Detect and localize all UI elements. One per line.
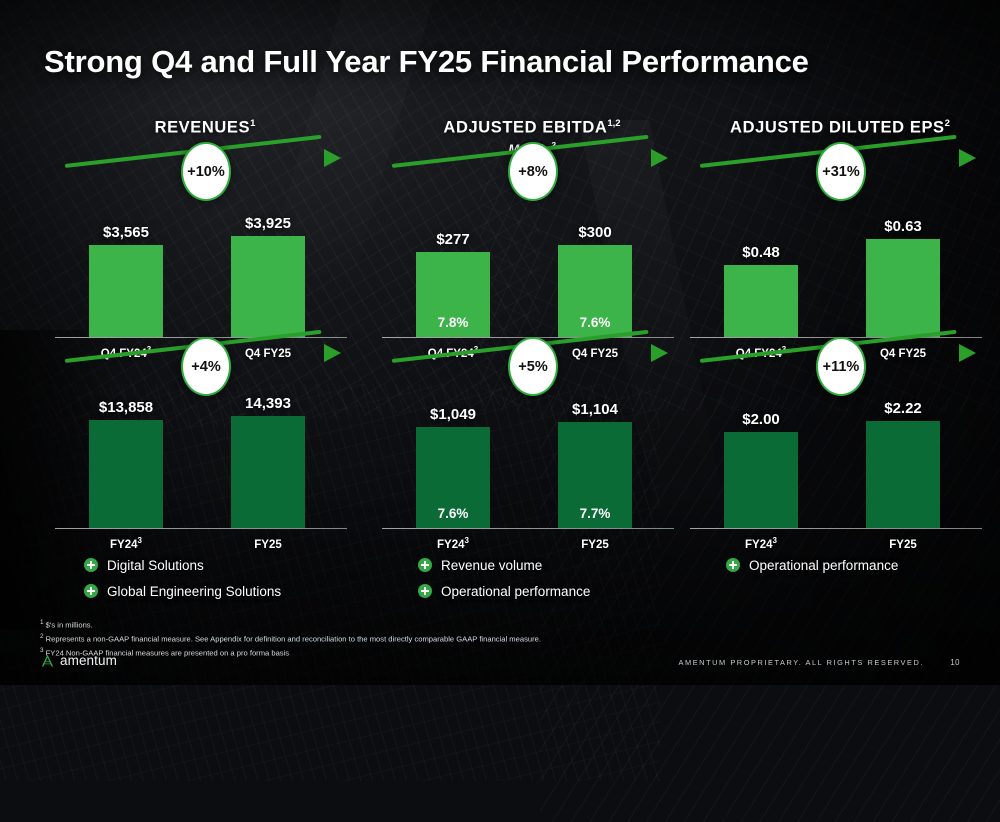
- bullet-item: Operational performance: [726, 552, 898, 578]
- growth-indicator: +8%: [392, 142, 676, 198]
- bullet-item: Operational performance: [418, 578, 590, 604]
- column-heading: ADJUSTED EBITDA1,2: [382, 118, 682, 138]
- bar: 14,393: [231, 416, 305, 528]
- bar: $2.22: [866, 421, 940, 528]
- bullets-adjusted-diluted-eps: Operational performance: [726, 552, 898, 578]
- bullet-label: Operational performance: [749, 558, 898, 573]
- footnote-item: 2 Represents a non-GAAP financial measur…: [40, 631, 541, 645]
- bar-value-label: $2.00: [742, 411, 780, 428]
- chart-full-year: $2.00FY243$2.22FY25+11%: [690, 355, 990, 555]
- axis-tick-text: FY24: [110, 539, 138, 551]
- footer-logo: amentum: [40, 653, 117, 668]
- bar-value-label: $0.48: [742, 244, 780, 261]
- growth-arrow-head: [324, 149, 341, 167]
- bar-margin-label: 7.8%: [416, 315, 490, 330]
- bullet-label: Operational performance: [441, 584, 590, 599]
- growth-percentage-badge: +5%: [508, 337, 558, 396]
- footnote-text: $'s in millions.: [44, 621, 93, 630]
- page-number: 10: [950, 658, 960, 667]
- bar-fill: [724, 432, 798, 528]
- growth-arrow-head: [651, 149, 668, 167]
- bar-fill: [866, 421, 940, 528]
- growth-percentage-badge: +11%: [816, 337, 866, 396]
- column-heading-text: REVENUES: [155, 119, 251, 137]
- growth-indicator: +31%: [700, 142, 984, 198]
- axis-tick-superscript: 3: [465, 536, 469, 545]
- growth-indicator: +10%: [65, 142, 349, 198]
- bar-fill: [89, 245, 163, 337]
- bar-value-label: $1,049: [430, 406, 476, 423]
- bullets-revenues: Digital SolutionsGlobal Engineering Solu…: [84, 552, 281, 604]
- growth-indicator: +11%: [700, 337, 984, 393]
- chart-axis-line: [690, 528, 982, 530]
- bar-fill: [231, 416, 305, 528]
- axis-tick-label: FY243: [416, 536, 490, 551]
- copyright-notice: AMENTUM PROPRIETARY. ALL RIGHTS RESERVED…: [679, 658, 924, 667]
- chart-axis-line: [382, 528, 674, 530]
- bar-fill: [866, 239, 940, 337]
- bullet-label: Global Engineering Solutions: [107, 584, 281, 599]
- growth-percentage-badge: +31%: [816, 142, 866, 201]
- plus-circle-icon: [84, 558, 98, 572]
- column-heading: REVENUES1: [55, 118, 355, 138]
- axis-tick-text: FY25: [889, 539, 917, 551]
- chart-full-year: $1,0497.6%FY243$1,1047.7%FY25+5%: [382, 355, 682, 555]
- plus-circle-icon: [418, 558, 432, 572]
- axis-tick-label: FY25: [231, 539, 305, 551]
- bar-fill: [231, 236, 305, 337]
- growth-indicator: +4%: [65, 337, 349, 393]
- column-heading-text: ADJUSTED EBITDA: [443, 119, 607, 137]
- bar-value-label: $1,104: [572, 401, 618, 418]
- bullet-item: Digital Solutions: [84, 552, 281, 578]
- axis-tick-text: FY24: [745, 539, 773, 551]
- amentum-arch-icon: [40, 653, 55, 668]
- column-heading-superscript: 1: [250, 118, 255, 129]
- bar: $2777.8%: [416, 252, 490, 337]
- bar: $3007.6%: [558, 245, 632, 337]
- bullet-item: Revenue volume: [418, 552, 590, 578]
- growth-arrow-head: [324, 344, 341, 362]
- bullet-label: Digital Solutions: [107, 558, 204, 573]
- growth-percentage-badge: +10%: [181, 142, 231, 201]
- bullet-item: Global Engineering Solutions: [84, 578, 281, 604]
- bar-value-label: $300: [578, 224, 611, 241]
- bar-margin-label: 7.7%: [558, 506, 632, 521]
- axis-tick-text: FY24: [437, 539, 465, 551]
- axis-tick-text: FY25: [581, 539, 609, 551]
- plus-circle-icon: [726, 558, 740, 572]
- growth-arrow-head: [959, 149, 976, 167]
- bullets-adjusted-ebitda: Revenue volumeOperational performance: [418, 552, 590, 604]
- chart-axis-line: [55, 528, 347, 530]
- bar-fill: [724, 265, 798, 337]
- growth-arrow-head: [651, 344, 668, 362]
- bar: $13,858: [89, 420, 163, 528]
- column-heading-superscript: 2: [945, 118, 950, 129]
- growth-percentage-badge: +8%: [508, 142, 558, 201]
- page-title: Strong Q4 and Full Year FY25 Financial P…: [44, 44, 809, 80]
- bar-margin-label: 7.6%: [558, 315, 632, 330]
- column-revenues: REVENUES1: [55, 118, 355, 138]
- growth-indicator: +5%: [392, 337, 676, 393]
- column-adjusted-diluted-eps: ADJUSTED DILUTED EPS2: [690, 118, 990, 138]
- column-heading: ADJUSTED DILUTED EPS2: [690, 118, 990, 138]
- bar: $0.63: [866, 239, 940, 337]
- axis-tick-label: FY25: [866, 539, 940, 551]
- bar: $3,565: [89, 245, 163, 337]
- bar-fill: [89, 420, 163, 528]
- amentum-wordmark: amentum: [60, 653, 117, 668]
- bar-value-label: 14,393: [245, 395, 291, 412]
- growth-percentage-badge: +4%: [181, 337, 231, 396]
- axis-tick-label: FY243: [724, 536, 798, 551]
- bar: $0.48: [724, 265, 798, 337]
- bullet-label: Revenue volume: [441, 558, 542, 573]
- bar-value-label: $2.22: [884, 400, 922, 417]
- bar-value-label: $0.63: [884, 218, 922, 235]
- bar-value-label: $13,858: [99, 399, 153, 416]
- growth-arrow-head: [959, 344, 976, 362]
- footnote-item: 1 $'s in millions.: [40, 617, 541, 631]
- slide: Strong Q4 and Full Year FY25 Financial P…: [0, 0, 1000, 685]
- axis-tick-label: FY25: [558, 539, 632, 551]
- bar: $1,1047.7%: [558, 422, 632, 528]
- bar: $1,0497.6%: [416, 427, 490, 528]
- axis-tick-text: FY25: [254, 539, 282, 551]
- axis-tick-label: FY243: [89, 536, 163, 551]
- bar-value-label: $277: [436, 231, 469, 248]
- bar: $3,925: [231, 236, 305, 337]
- plus-circle-icon: [418, 584, 432, 598]
- footnote-text: Represents a non-GAAP financial measure.…: [44, 634, 541, 643]
- plus-circle-icon: [84, 584, 98, 598]
- bar: $2.00: [724, 432, 798, 528]
- axis-tick-superscript: 3: [138, 536, 142, 545]
- bar-value-label: $3,925: [245, 215, 291, 232]
- bar-value-label: $3,565: [103, 224, 149, 241]
- column-heading-text: ADJUSTED DILUTED EPS: [730, 119, 945, 137]
- column-heading-superscript: 1,2: [607, 118, 620, 129]
- chart-full-year: $13,858FY24314,393FY25+4%: [55, 355, 355, 555]
- axis-tick-superscript: 3: [773, 536, 777, 545]
- bar-margin-label: 7.6%: [416, 506, 490, 521]
